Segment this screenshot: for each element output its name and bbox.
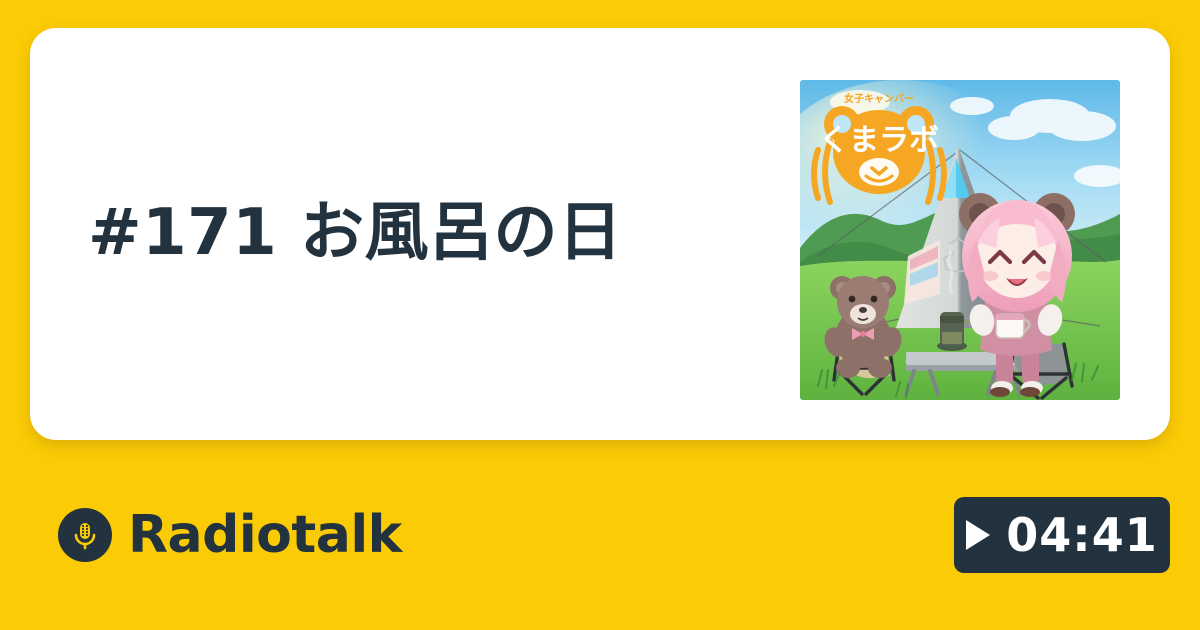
play-triangle-icon	[966, 520, 990, 550]
logo-tagline: 女子キャンパー	[844, 92, 914, 105]
episode-card[interactable]: #171 お風呂の日	[30, 28, 1170, 440]
duration-label: 04:41	[1006, 512, 1157, 558]
microphone-icon	[58, 508, 112, 562]
play-duration-badge[interactable]: 04:41	[954, 497, 1170, 573]
brand-name: Radiotalk	[128, 509, 402, 561]
footer-bar: Radiotalk 04:41	[0, 440, 1200, 630]
brand-logo[interactable]: Radiotalk	[58, 508, 402, 562]
logo-name: くまラボ	[819, 123, 939, 158]
episode-thumbnail[interactable]: 女子キャンパー くまラボ	[800, 80, 1120, 400]
